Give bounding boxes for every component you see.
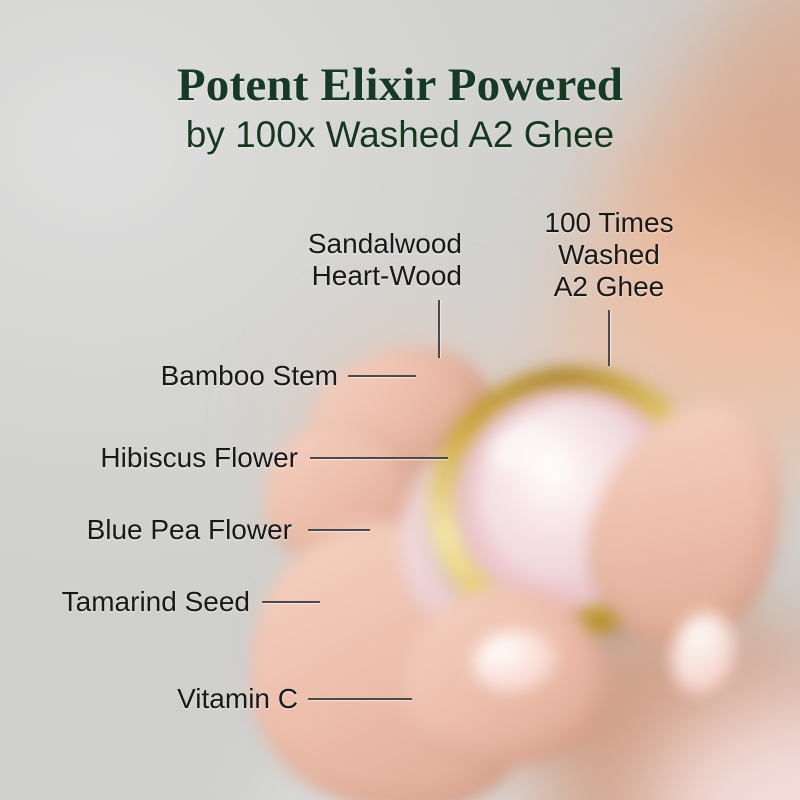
- leader-line-hibiscus-flower: [310, 457, 448, 459]
- label-bamboo-stem: Bamboo Stem: [28, 360, 338, 392]
- label-line: Bamboo Stem: [28, 360, 338, 392]
- label-washed-a2-ghee: 100 Times Washed A2 Ghee: [518, 207, 700, 303]
- product-infographic: Potent Elixir Powered by 100x Washed A2 …: [0, 0, 800, 800]
- page-title: Potent Elixir Powered: [0, 58, 800, 112]
- label-line: Tamarind Seed: [0, 586, 250, 618]
- label-vitamin-c: Vitamin C: [0, 683, 298, 715]
- label-line: Vitamin C: [0, 683, 298, 715]
- leader-line-washed-a2-ghee: [608, 310, 610, 366]
- leader-line-bamboo-stem: [348, 375, 416, 377]
- label-line: Washed: [518, 239, 700, 271]
- label-line: Hibiscus Flower: [0, 442, 298, 474]
- label-tamarind-seed: Tamarind Seed: [0, 586, 250, 618]
- label-line: Blue Pea Flower: [0, 514, 292, 546]
- label-line: 100 Times: [518, 207, 700, 239]
- leader-line-blue-pea-flower: [308, 529, 370, 531]
- leader-line-vitamin-c: [308, 698, 412, 700]
- page-subtitle: by 100x Washed A2 Ghee: [0, 114, 800, 156]
- label-line: Sandalwood: [140, 228, 462, 260]
- label-line: Heart-Wood: [140, 260, 462, 292]
- leader-line-sandalwood-heart-wood: [438, 300, 440, 358]
- leader-line-tamarind-seed: [262, 601, 320, 603]
- label-blue-pea-flower: Blue Pea Flower: [0, 514, 292, 546]
- label-line: A2 Ghee: [518, 271, 700, 303]
- label-hibiscus-flower: Hibiscus Flower: [0, 442, 298, 474]
- label-sandalwood-heart-wood: Sandalwood Heart-Wood: [140, 228, 462, 292]
